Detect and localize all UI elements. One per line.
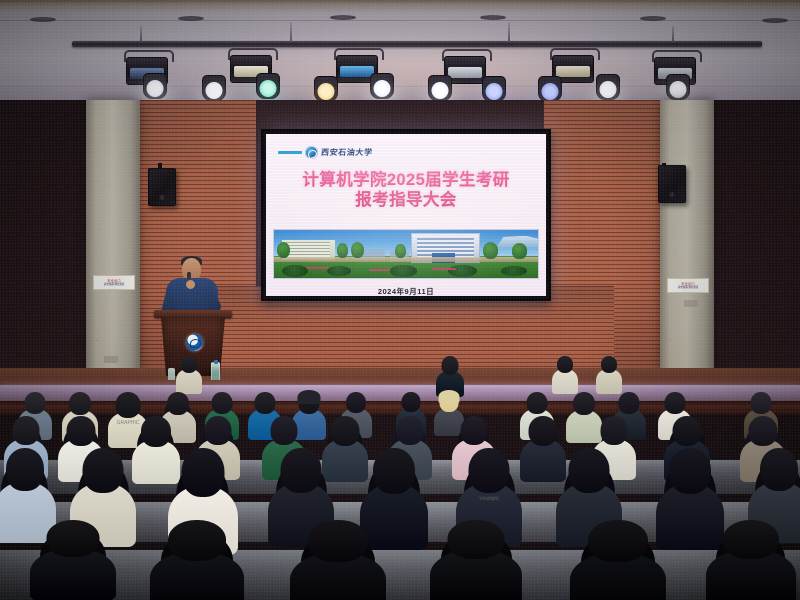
audience-head <box>13 416 40 445</box>
audience-head <box>588 520 648 562</box>
auditorium-photo: 安全出口 请勿堵塞消防通道 安全出口 请勿堵塞消防通道 西安石油大学 计算机学院… <box>0 0 800 600</box>
audience-people: DesertGRAPHICVmslight <box>0 0 800 600</box>
audience-head <box>168 520 226 561</box>
audience-cap <box>439 390 460 403</box>
audience-head <box>527 392 548 414</box>
audience-head <box>67 416 96 446</box>
audience-head <box>569 448 610 493</box>
audience-head <box>141 416 171 447</box>
audience-head <box>461 416 488 445</box>
audience-head <box>402 392 421 412</box>
audience-head <box>47 520 100 557</box>
audience-head <box>212 392 233 414</box>
audience-head <box>182 448 225 497</box>
audience-head <box>601 356 617 373</box>
audience-head <box>255 392 276 414</box>
audience-person <box>570 520 666 600</box>
audience-head <box>308 520 368 562</box>
audience-head <box>529 416 558 446</box>
audience-head <box>373 448 415 494</box>
audience-head <box>665 392 686 414</box>
audience-head <box>331 416 360 446</box>
audience-head <box>116 392 141 418</box>
audience-head <box>6 448 44 491</box>
audience-person <box>706 520 796 600</box>
audience-head <box>673 416 702 446</box>
audience-head <box>469 448 510 493</box>
audience-head <box>167 392 189 415</box>
audience-head <box>281 448 322 493</box>
audience-head <box>723 520 779 559</box>
audience-head <box>346 392 366 413</box>
audience-head <box>397 416 424 445</box>
audience-head <box>751 392 772 414</box>
audience-head <box>557 356 573 373</box>
audience-head <box>448 520 505 559</box>
audience-head <box>181 356 197 373</box>
audience-head <box>601 416 628 445</box>
audience-head <box>760 448 798 491</box>
audience-head <box>573 392 595 415</box>
audience-head <box>69 392 91 415</box>
audience-head <box>749 416 778 446</box>
audience-head <box>442 356 459 375</box>
audience-person <box>290 520 386 600</box>
shirt-graphic: Vmslight <box>469 495 510 503</box>
audience-head <box>25 392 46 414</box>
audience-head <box>619 392 640 414</box>
audience-person <box>30 520 116 600</box>
audience-cap <box>298 390 321 404</box>
audience-head <box>83 448 124 493</box>
audience-head <box>205 416 232 445</box>
audience-head <box>271 416 298 445</box>
audience-head <box>669 448 711 494</box>
audience-person <box>150 520 244 600</box>
audience-person <box>430 520 522 600</box>
